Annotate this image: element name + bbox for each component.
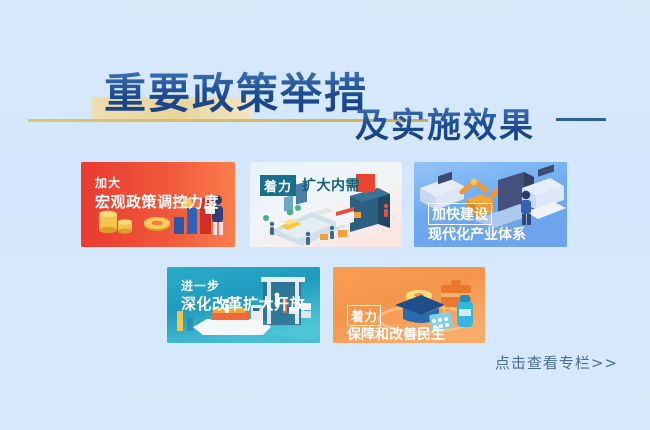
policy-card-reform-opening[interactable]: 进一步 深化改革扩大开放 xyxy=(167,267,320,343)
page-title-line1: 重要政策举措 xyxy=(104,60,368,121)
policy-card-1-line2: 宏观政策调控力度 xyxy=(95,191,219,212)
policy-card-macro-control[interactable]: 加大 宏观政策调控力度 xyxy=(81,162,235,247)
page-title-line2: 及实施效果 xyxy=(355,98,535,147)
policy-card-5-line1: 着力 xyxy=(347,305,381,326)
policy-card-1-line1: 加大 xyxy=(95,174,121,191)
policy-card-2-line1: 着力 xyxy=(260,175,296,196)
policy-card-5-line2: 保障和改善民生 xyxy=(347,324,445,343)
policy-card-4-line1: 进一步 xyxy=(181,277,220,294)
view-column-link[interactable]: 点击查看专栏>> xyxy=(495,352,618,373)
title-trailing-dash xyxy=(556,118,606,121)
banner-header: 重要政策举措 及实施效果 xyxy=(0,52,650,152)
policy-card-3-line1: 加快建设 xyxy=(428,203,492,225)
policy-card-expand-demand[interactable]: 着力 扩大内需 xyxy=(250,162,402,247)
policy-card-2-line2: 扩大内需 xyxy=(302,175,360,195)
policy-card-4-line2: 深化改革扩大开放 xyxy=(181,293,305,314)
policy-card-peoples-livelihood[interactable]: 着力 保障和改善民生 xyxy=(333,267,485,343)
banner-root: 重要政策举措 及实施效果 xyxy=(0,0,650,430)
policy-card-modern-industry[interactable]: 加快建设 现代化产业体系 xyxy=(414,162,567,247)
policy-card-3-line2: 现代化产业体系 xyxy=(428,224,526,244)
